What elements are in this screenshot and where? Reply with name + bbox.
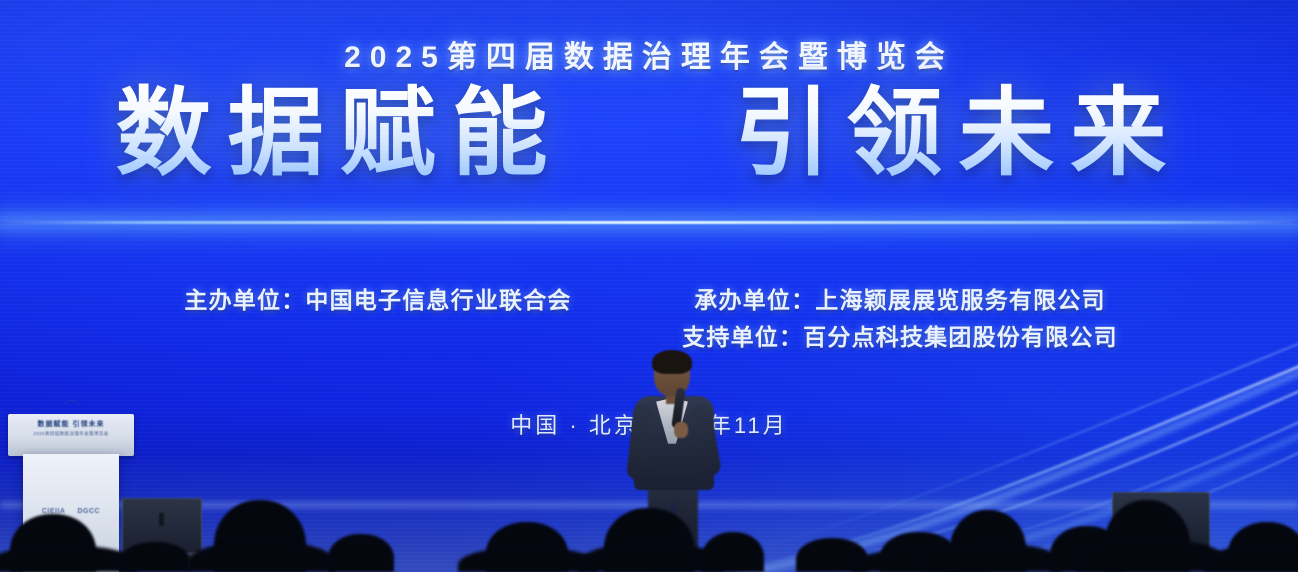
monitor-screen bbox=[1112, 492, 1210, 550]
podium-logo-left: CIEIIA bbox=[42, 508, 66, 515]
speaker-shoes bbox=[648, 562, 696, 571]
event-headline: 数据赋能 引领未来 bbox=[0, 82, 1298, 186]
audience-head bbox=[796, 538, 868, 572]
audience-shoulders bbox=[458, 548, 598, 572]
podium-logo-row: CIEIIA DGCC bbox=[29, 508, 113, 515]
audience-head bbox=[1104, 500, 1190, 572]
supporting-unit-line: 支持单位：百分点科技集团股份有限公司 bbox=[665, 319, 1135, 356]
laptop-screen bbox=[122, 498, 202, 554]
event-eyebrow-title: 2025第四届数据治理年会暨博览会 bbox=[0, 32, 1298, 76]
light-ray-graphic bbox=[718, 322, 1298, 572]
podium: 数据赋能 引领未来 2025第四届数据治理年会暨博览会 CIEIIA DGCC bbox=[8, 400, 134, 572]
divider-beam bbox=[0, 221, 1298, 224]
audience-shoulders bbox=[188, 542, 336, 572]
audience-shoulders bbox=[852, 550, 990, 572]
audience-head bbox=[1050, 526, 1124, 572]
conference-stage-photo: 2025第四届数据治理年会暨博览会 数据赋能 引领未来 主办单位：中国电子信息行… bbox=[0, 0, 1298, 572]
organizing-unit-line: 承办单位：上海颖展展览服务有限公司 bbox=[665, 282, 1135, 319]
audience-shoulders bbox=[1076, 540, 1228, 572]
speaker-hair bbox=[652, 350, 692, 374]
audience-head bbox=[214, 500, 306, 572]
speaker-figure bbox=[622, 352, 726, 572]
audience-head bbox=[950, 510, 1026, 572]
speaker-leg-gap bbox=[671, 502, 675, 564]
divider-beam-haze bbox=[0, 196, 1298, 250]
audience-shoulders bbox=[1204, 546, 1298, 572]
podium-subtitle-text: 2025第四届数据治理年会暨博览会 bbox=[16, 431, 126, 437]
laptop-camera-icon bbox=[159, 513, 164, 526]
podium-logo-right: DGCC bbox=[78, 508, 101, 515]
podium-body-panel: CIEIIA DGCC bbox=[23, 454, 119, 572]
audience-head bbox=[328, 534, 394, 572]
audience-head bbox=[880, 532, 958, 572]
podium-header-panel: 数据赋能 引领未来 2025第四届数据治理年会暨博览会 bbox=[8, 414, 134, 456]
podium-title-text: 数据赋能 引领未来 bbox=[16, 419, 126, 429]
organizer-block: 主办单位：中国电子信息行业联合会 承办单位：上海颖展展览服务有限公司 支持单位：… bbox=[0, 282, 1298, 357]
speaker-hand bbox=[674, 422, 688, 438]
audience-head bbox=[1228, 522, 1298, 572]
host-organization-line: 主办单位：中国电子信息行业联合会 bbox=[163, 282, 593, 319]
audience-shoulders bbox=[922, 544, 1062, 572]
audience-head bbox=[486, 522, 568, 572]
